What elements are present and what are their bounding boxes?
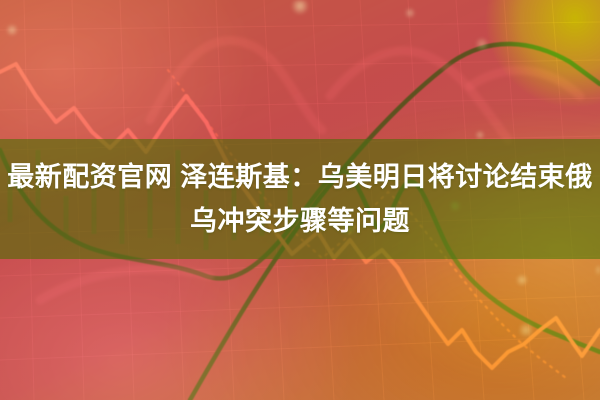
headline-line-1: 最新配资官网 泽连斯基：乌美明日将讨论结束俄	[7, 158, 593, 196]
headline-text-block: 最新配资官网 泽连斯基：乌美明日将讨论结束俄 乌冲突步骤等问题	[0, 139, 600, 259]
headline-banner: 最新配资官网 泽连斯基：乌美明日将讨论结束俄 乌冲突步骤等问题	[0, 0, 600, 400]
headline-line-2: 乌冲突步骤等问题	[190, 202, 410, 240]
